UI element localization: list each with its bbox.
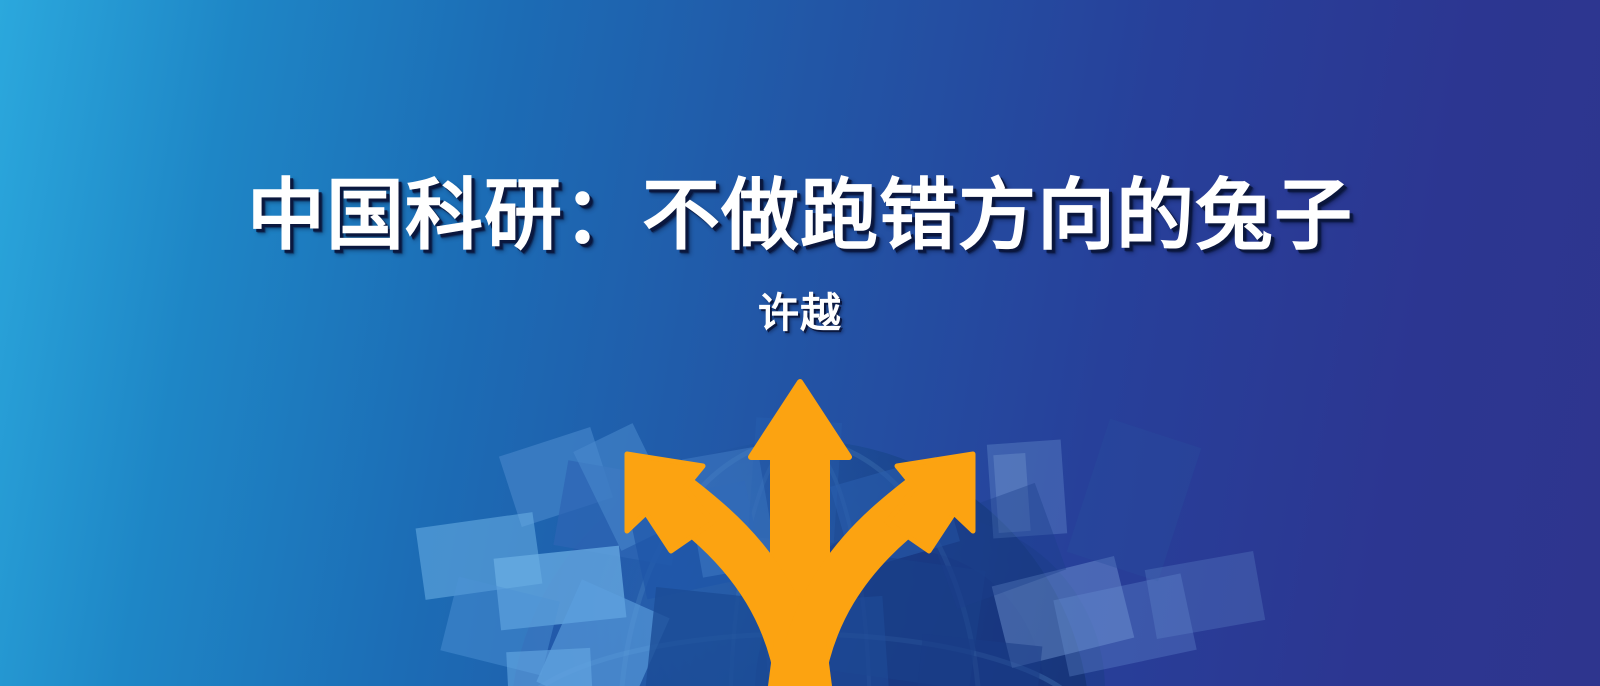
arrow-left-icon xyxy=(627,454,800,686)
three-way-arrow-globe-illustration xyxy=(0,0,1600,686)
globe-sphere xyxy=(510,440,1105,686)
floating-tiles-left xyxy=(416,423,796,686)
arrow-group xyxy=(627,382,973,686)
arrow-center-icon xyxy=(751,382,849,615)
background-artwork xyxy=(0,0,1600,686)
floating-tiles-center xyxy=(682,417,985,686)
page-title: 中国科研：不做跑错方向的兔子 xyxy=(0,176,1600,256)
title-slide: 中国科研：不做跑错方向的兔子 许越 xyxy=(0,0,1600,686)
arrow-right-icon xyxy=(800,454,973,686)
author-subtitle: 许越 xyxy=(0,291,1600,336)
floating-tiles-right xyxy=(914,419,1266,686)
arrow-shared-stem xyxy=(768,640,832,686)
